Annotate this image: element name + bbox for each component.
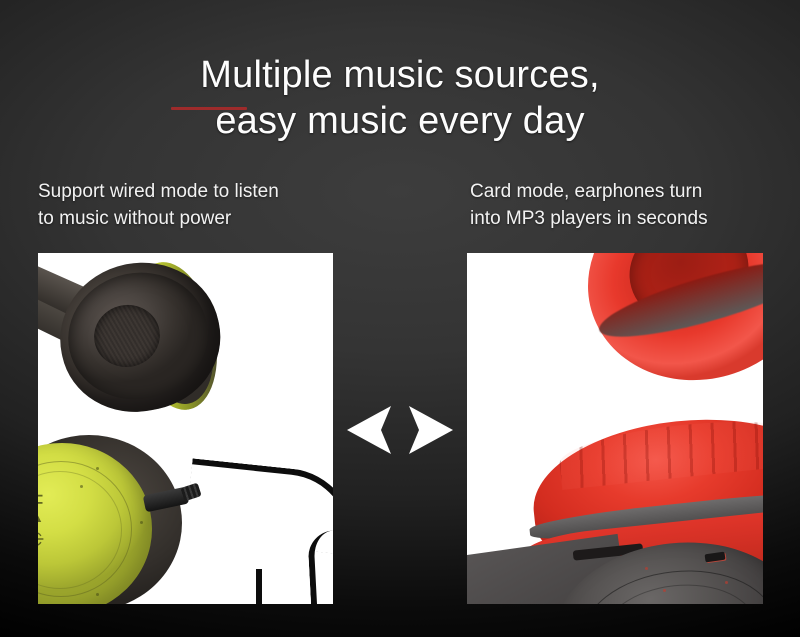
control-dot bbox=[96, 467, 99, 470]
control-dot bbox=[645, 567, 648, 570]
control-dot bbox=[725, 581, 728, 584]
control-dot bbox=[140, 521, 143, 524]
arrow-right-icon bbox=[409, 406, 453, 454]
right-feature-caption: Card mode, earphones turn into MP3 playe… bbox=[470, 178, 770, 232]
audio-cable-upper bbox=[184, 458, 333, 555]
left-feature-caption: Support wired mode to listen to music wi… bbox=[38, 178, 358, 232]
audio-cable-lower bbox=[256, 569, 333, 604]
promo-banner: Multiple music sources, easy music every… bbox=[0, 0, 800, 637]
control-dot bbox=[663, 589, 666, 592]
control-dot bbox=[96, 593, 99, 596]
page-title: Multiple music sources, easy music every… bbox=[0, 6, 800, 190]
arrow-left-icon bbox=[347, 406, 391, 454]
wired-mode-headphone-photo: II◀ ⏻ bbox=[38, 253, 333, 604]
left-control-glyphs: II◀ ⏻ bbox=[38, 493, 44, 548]
card-mode-headphone-photo: II◀ ⏻ bbox=[467, 253, 763, 604]
page-title-text: Multiple music sources, easy music every… bbox=[200, 54, 600, 142]
control-dot bbox=[80, 485, 83, 488]
red-spellcheck-underline bbox=[171, 107, 247, 110]
dual-mode-arrows bbox=[345, 403, 455, 457]
